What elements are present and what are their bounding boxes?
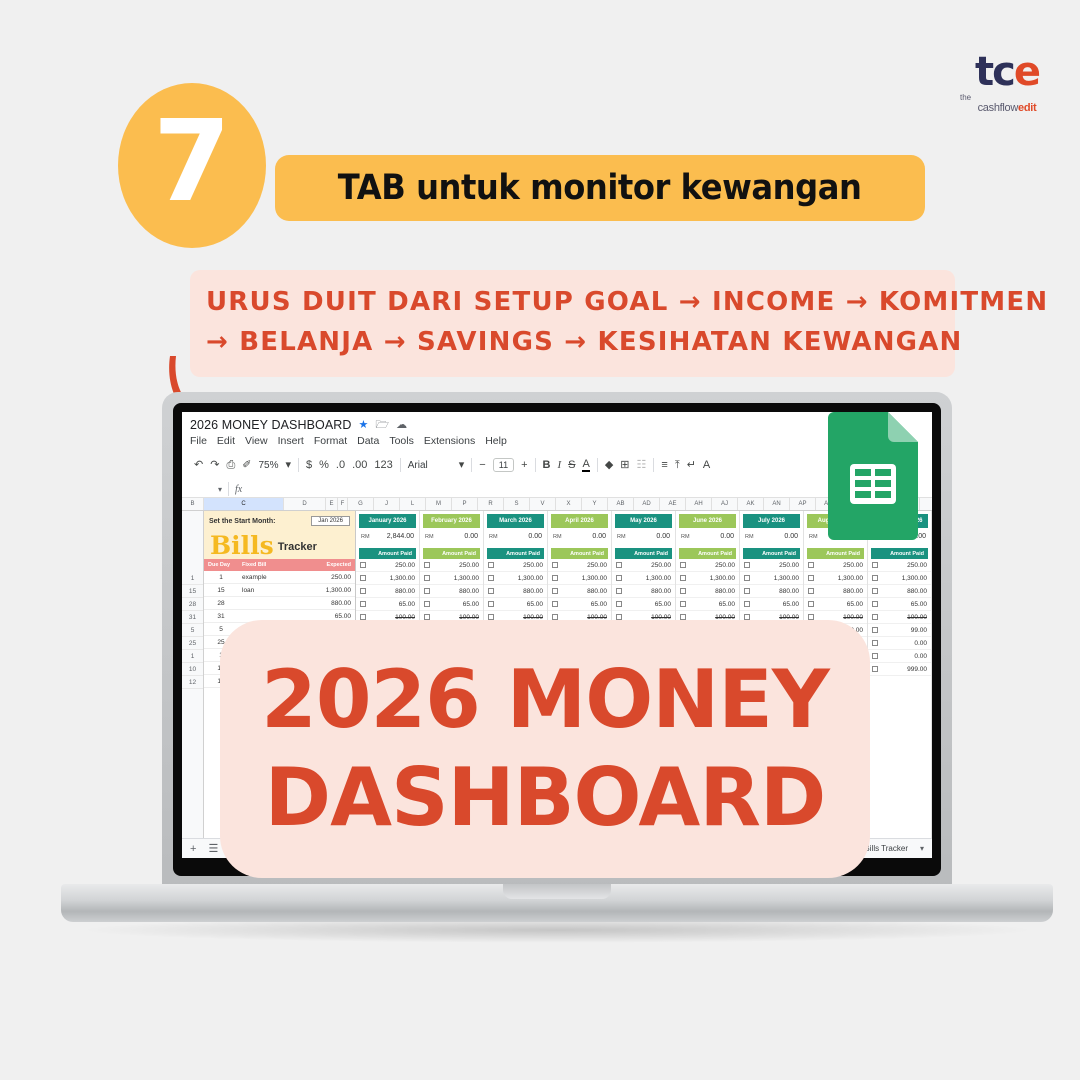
currency-label: RM xyxy=(617,534,626,540)
amount-paid-value: 65.00 xyxy=(399,601,415,608)
amount-paid-value: 250.00 xyxy=(907,562,927,569)
sheets-title-row: 2026 MONEY DASHBOARD ★ 🗁 ☁ xyxy=(190,418,924,432)
start-month-row: Set the Start Month: Jan 2026 xyxy=(204,511,355,531)
number-badge: 7 xyxy=(118,83,266,248)
sheets-menubar: File Edit View Insert Format Data Tools … xyxy=(190,435,924,447)
paid-checkbox[interactable] xyxy=(872,627,878,633)
column-header-an[interactable]: AN xyxy=(764,498,790,510)
amount-paid-cell[interactable]: 250.00 xyxy=(548,559,611,572)
decrease-font-size-button[interactable]: − xyxy=(479,460,485,471)
amount-paid-value: 100.00 xyxy=(907,614,927,621)
amount-paid-value: 250.00 xyxy=(715,562,735,569)
row-header[interactable]: 28 xyxy=(182,598,203,611)
amount-paid-cell[interactable]: 1,300.00 xyxy=(740,572,803,585)
month-total: RM0.00 xyxy=(484,528,547,545)
undo-icon[interactable]: ↶ xyxy=(194,460,203,471)
start-month-input[interactable]: Jan 2026 xyxy=(311,516,350,526)
amount-paid-value: 65.00 xyxy=(527,601,543,608)
paid-checkbox[interactable] xyxy=(616,588,622,594)
paid-checkbox[interactable] xyxy=(872,666,878,672)
paid-checkbox[interactable] xyxy=(872,653,878,659)
row-header[interactable]: 10 xyxy=(182,663,203,676)
paid-checkbox[interactable] xyxy=(616,601,622,607)
currency-label: RM xyxy=(489,534,498,540)
amount-paid-cell[interactable]: 1,300.00 xyxy=(548,572,611,585)
amount-paid-cell[interactable]: 999.00 xyxy=(868,663,931,676)
column-header-j[interactable]: J xyxy=(374,498,400,510)
amount-paid-value: 0.00 xyxy=(914,653,927,660)
amount-paid-cell[interactable]: 880.00 xyxy=(740,585,803,598)
amount-paid-value: 1,300.00 xyxy=(710,575,735,582)
amount-paid-value: 99.00 xyxy=(911,627,927,634)
strikethrough-button[interactable]: S xyxy=(568,460,575,471)
column-header-s[interactable]: S xyxy=(504,498,530,510)
font-chevron-down-icon[interactable]: ▾ xyxy=(459,460,465,471)
amount-paid-value: 250.00 xyxy=(523,562,543,569)
formula-divider xyxy=(228,482,229,496)
paid-checkbox[interactable] xyxy=(360,601,366,607)
headline-pill: TAB untuk monitor kewangan xyxy=(275,155,925,221)
bills-header-expected: Expected xyxy=(309,562,355,568)
amount-paid-value: 65.00 xyxy=(783,601,799,608)
amount-paid-cell[interactable]: 1,300.00 xyxy=(804,572,867,585)
more-formats-button[interactable]: 123 xyxy=(374,460,392,471)
amount-paid-header: Amount Paid xyxy=(743,548,800,559)
brand-logo: tce the cashflowedit xyxy=(952,52,1062,114)
bills-cell-expected: 1,300.00 xyxy=(309,587,355,594)
amount-paid-cell[interactable]: 250.00 xyxy=(356,559,419,572)
column-header-ah[interactable]: AH xyxy=(686,498,712,510)
month-header: June 2026 xyxy=(679,514,736,528)
amount-paid-header: Amount Paid xyxy=(487,548,544,559)
amount-paid-cell[interactable]: 65.00 xyxy=(740,598,803,611)
column-header-c[interactable]: C xyxy=(204,498,284,510)
amount-paid-value: 65.00 xyxy=(847,601,863,608)
bold-button[interactable]: B xyxy=(543,460,551,471)
column-header-f[interactable]: F xyxy=(338,498,348,510)
amount-paid-value: 1,300.00 xyxy=(902,575,927,582)
paid-checkbox[interactable] xyxy=(872,562,878,568)
bills-cell-due-day: 28 xyxy=(204,600,238,607)
month-header: April 2026 xyxy=(551,514,608,528)
amount-paid-value: 65.00 xyxy=(591,601,607,608)
amount-paid-value: 880.00 xyxy=(459,588,479,595)
sheets-toolbar: ↶ ↷ ⎙ ✐ 75% ▾ $ % .0 .00 123 Arial xyxy=(188,452,926,478)
amount-paid-header: Amount Paid xyxy=(615,548,672,559)
amount-paid-value: 1,300.00 xyxy=(582,575,607,582)
amount-paid-cell[interactable]: 100.00 xyxy=(868,611,931,624)
amount-paid-value: 250.00 xyxy=(395,562,415,569)
all-sheets-icon[interactable]: ☰ xyxy=(208,842,218,855)
column-header-m[interactable]: M xyxy=(426,498,452,510)
bills-logo-main: Bills xyxy=(210,535,274,558)
currency-label: RM xyxy=(745,534,754,540)
column-header-y[interactable]: Y xyxy=(582,498,608,510)
paid-checkbox[interactable] xyxy=(680,562,686,568)
star-icon[interactable]: ★ xyxy=(359,420,369,431)
amount-paid-header: Amount Paid xyxy=(423,548,480,559)
month-header: July 2026 xyxy=(743,514,800,528)
toolbar-divider-4 xyxy=(535,458,536,472)
paid-checkbox[interactable] xyxy=(872,575,878,581)
start-month-label: Set the Start Month: xyxy=(209,518,276,525)
column-header-d[interactable]: D xyxy=(284,498,326,510)
amount-paid-value: 1,300.00 xyxy=(838,575,863,582)
amount-paid-value: 1,300.00 xyxy=(774,575,799,582)
redo-icon[interactable]: ↷ xyxy=(210,460,219,471)
amount-paid-value: 250.00 xyxy=(587,562,607,569)
amount-paid-value: 880.00 xyxy=(843,588,863,595)
paid-checkbox[interactable] xyxy=(488,588,494,594)
paid-checkbox[interactable] xyxy=(360,575,366,581)
paid-checkbox[interactable] xyxy=(552,601,558,607)
amount-paid-cell[interactable]: 65.00 xyxy=(548,598,611,611)
month-total: RM0.00 xyxy=(420,528,483,545)
move-to-folder-icon[interactable]: 🗁 xyxy=(375,420,389,431)
menu-tools[interactable]: Tools xyxy=(389,435,414,447)
amount-paid-cell[interactable]: 1,300.00 xyxy=(612,572,675,585)
paid-checkbox[interactable] xyxy=(744,575,750,581)
amount-paid-cell[interactable]: 1,300.00 xyxy=(356,572,419,585)
dashboard-title-overlay: 2026 MONEY DASHBOARD xyxy=(220,620,870,878)
paid-checkbox[interactable] xyxy=(744,601,750,607)
paid-checkbox[interactable] xyxy=(424,575,430,581)
zoom-level-select[interactable]: 75% xyxy=(258,460,278,471)
currency-label: RM xyxy=(361,534,370,540)
month-header: May 2026 xyxy=(615,514,672,528)
amount-paid-cell[interactable]: 250.00 xyxy=(612,559,675,572)
paid-checkbox[interactable] xyxy=(552,562,558,568)
currency-label: RM xyxy=(425,534,434,540)
menu-format[interactable]: Format xyxy=(314,435,347,447)
amount-paid-value: 1,300.00 xyxy=(390,575,415,582)
amount-paid-cell[interactable]: 99.00 xyxy=(868,624,931,637)
amount-paid-value: 880.00 xyxy=(523,588,543,595)
column-header-ae[interactable]: AE xyxy=(660,498,686,510)
bills-cell-due-day: 1 xyxy=(204,574,238,581)
month-total-value: 0.00 xyxy=(720,533,734,540)
font-size-input[interactable]: 11 xyxy=(493,458,514,472)
text-rotation-icon[interactable]: A xyxy=(703,460,710,471)
currency-label: RM xyxy=(553,534,562,540)
paid-checkbox[interactable] xyxy=(680,588,686,594)
paid-checkbox[interactable] xyxy=(488,575,494,581)
toolbar-divider-5 xyxy=(597,458,598,472)
amount-paid-cell[interactable]: 250.00 xyxy=(484,559,547,572)
paid-checkbox[interactable] xyxy=(872,614,878,620)
paid-checkbox[interactable] xyxy=(808,562,814,568)
bills-header-fixed-bill: Fixed Bill xyxy=(238,562,309,568)
month-total: RM2,844.00 xyxy=(356,528,419,545)
row-header[interactable]: 5 xyxy=(182,624,203,637)
sheet-tab-bills-tracker[interactable]: Bills Tracker xyxy=(864,844,908,853)
bills-cell-due-day: 31 xyxy=(204,613,238,620)
currency-label: RM xyxy=(809,534,818,540)
bills-cell-expected: 880.00 xyxy=(309,600,355,607)
paid-checkbox[interactable] xyxy=(360,562,366,568)
paid-checkbox[interactable] xyxy=(872,601,878,607)
add-sheet-icon[interactable]: + xyxy=(190,843,196,855)
amount-paid-cell[interactable]: 0.00 xyxy=(868,650,931,663)
name-box-chevron-down-icon[interactable]: ▾ xyxy=(218,485,222,494)
bills-cell-expected: 65.00 xyxy=(309,613,355,620)
paid-checkbox[interactable] xyxy=(488,562,494,568)
column-header-l[interactable]: L xyxy=(400,498,426,510)
column-header-x[interactable]: X xyxy=(556,498,582,510)
month-total: RM0.00 xyxy=(612,528,675,545)
month-total-value: 0.00 xyxy=(528,533,542,540)
amount-paid-value: 880.00 xyxy=(715,588,735,595)
column-header-p[interactable]: P xyxy=(452,498,478,510)
amount-paid-cell[interactable]: 880.00 xyxy=(484,585,547,598)
paid-checkbox[interactable] xyxy=(744,588,750,594)
amount-paid-value: 100.00 xyxy=(843,614,863,621)
print-icon[interactable]: ⎙ xyxy=(226,460,235,471)
month-total-value: 0.00 xyxy=(784,533,798,540)
amount-paid-value: 1,300.00 xyxy=(454,575,479,582)
column-header-row: BCDEFGJLMPRSVXYABADAEAHAJAKANAPAQATAVAW xyxy=(182,498,932,511)
column-header-e[interactable]: E xyxy=(326,498,338,510)
bills-cell-fixed-bill: loan xyxy=(238,587,309,594)
flow-description-block: URUS DUIT DARI SETUP GOAL → INCOME → KOM… xyxy=(190,270,955,377)
amount-paid-cell[interactable]: 65.00 xyxy=(356,598,419,611)
amount-paid-header: Amount Paid xyxy=(359,548,416,559)
paid-checkbox[interactable] xyxy=(680,575,686,581)
brand-tagline: cashflowedit xyxy=(952,102,1062,114)
overlay-line-2: DASHBOARD xyxy=(265,749,826,847)
amount-paid-cell[interactable]: 1,300.00 xyxy=(868,572,931,585)
bills-header-due-day: Due Day xyxy=(204,562,238,568)
brand-tagline-accent: edit xyxy=(1018,102,1036,114)
document-title[interactable]: 2026 MONEY DASHBOARD xyxy=(190,418,352,432)
bills-tracker-logo: Bills Tracker xyxy=(204,531,355,559)
column-header-ad[interactable]: AD xyxy=(634,498,660,510)
amount-paid-cell[interactable]: 65.00 xyxy=(612,598,675,611)
overlay-line-1: 2026 MONEY xyxy=(261,651,829,749)
formula-bar: ▾ fx xyxy=(182,481,932,498)
paid-checkbox[interactable] xyxy=(808,601,814,607)
amount-paid-cell[interactable]: 65.00 xyxy=(420,598,483,611)
month-total-value: 2,844.00 xyxy=(387,533,414,540)
amount-paid-cell[interactable]: 880.00 xyxy=(804,585,867,598)
brand-letter-e: e xyxy=(1014,49,1039,95)
menu-edit[interactable]: Edit xyxy=(217,435,235,447)
amount-paid-cell[interactable]: 880.00 xyxy=(676,585,739,598)
amount-paid-cell[interactable]: 1,300.00 xyxy=(484,572,547,585)
paid-checkbox[interactable] xyxy=(360,588,366,594)
flow-line-2: → BELANJA → SAVINGS → KESIHATAN KEWANGAN xyxy=(206,322,939,362)
menu-insert[interactable]: Insert xyxy=(278,435,304,447)
paid-checkbox[interactable] xyxy=(808,575,814,581)
paid-checkbox[interactable] xyxy=(424,588,430,594)
toolbar-divider-6 xyxy=(653,458,654,472)
amount-paid-header: Amount Paid xyxy=(551,548,608,559)
amount-paid-cell[interactable]: 250.00 xyxy=(676,559,739,572)
bills-table-header: Due Day Fixed Bill Expected xyxy=(204,559,355,571)
amount-paid-value: 880.00 xyxy=(587,588,607,595)
borders-icon[interactable]: ⊞ xyxy=(620,460,629,471)
column-header-r[interactable]: R xyxy=(478,498,504,510)
amount-paid-header: Amount Paid xyxy=(807,548,864,559)
amount-paid-cell[interactable]: 250.00 xyxy=(804,559,867,572)
increase-font-size-button[interactable]: + xyxy=(521,460,527,471)
column-header-ab[interactable]: AB xyxy=(608,498,634,510)
row-header[interactable]: 1 xyxy=(182,572,203,585)
amount-paid-cell[interactable]: 65.00 xyxy=(804,598,867,611)
italic-button[interactable]: I xyxy=(557,460,561,471)
paid-checkbox[interactable] xyxy=(808,588,814,594)
amount-paid-value: 880.00 xyxy=(907,588,927,595)
month-total-value: 0.00 xyxy=(656,533,670,540)
month-header: March 2026 xyxy=(487,514,544,528)
toolbar-divider-3 xyxy=(471,458,472,472)
paid-checkbox[interactable] xyxy=(488,601,494,607)
bills-row[interactable]: 1example250.00 xyxy=(204,571,355,584)
decrease-decimal-button[interactable]: .0 xyxy=(336,460,345,471)
sheet-tab-chevron-down-icon[interactable]: ▾ xyxy=(920,844,924,853)
menu-file[interactable]: File xyxy=(190,435,207,447)
amount-paid-header: Amount Paid xyxy=(871,548,928,559)
amount-paid-value: 880.00 xyxy=(779,588,799,595)
amount-paid-value: 880.00 xyxy=(395,588,415,595)
currency-label: RM xyxy=(681,534,690,540)
amount-paid-cell[interactable]: 880.00 xyxy=(420,585,483,598)
currency-format-button[interactable]: $ xyxy=(306,460,312,471)
amount-paid-value: 65.00 xyxy=(463,601,479,608)
paid-checkbox[interactable] xyxy=(424,562,430,568)
row-header[interactable]: 15 xyxy=(182,585,203,598)
amount-paid-cell[interactable]: 880.00 xyxy=(868,585,931,598)
amount-paid-cell[interactable]: 880.00 xyxy=(548,585,611,598)
paid-checkbox[interactable] xyxy=(552,575,558,581)
amount-paid-cell[interactable]: 0.00 xyxy=(868,637,931,650)
badge-number: 7 xyxy=(153,106,231,218)
amount-paid-cell[interactable]: 1,300.00 xyxy=(676,572,739,585)
column-header-ap[interactable]: AP xyxy=(790,498,816,510)
horizontal-align-icon[interactable]: ≡ xyxy=(661,460,667,471)
headline-text: TAB untuk monitor kewangan xyxy=(338,168,862,208)
brand-wordmark: tce xyxy=(952,52,1062,92)
merge-cells-icon[interactable]: ☷ xyxy=(637,460,647,471)
amount-paid-cell[interactable]: 250.00 xyxy=(740,559,803,572)
column-header-b[interactable]: B xyxy=(182,498,204,510)
amount-paid-value: 250.00 xyxy=(459,562,479,569)
google-sheets-icon xyxy=(828,412,918,540)
amount-paid-cell[interactable]: 250.00 xyxy=(420,559,483,572)
row-header[interactable]: 31 xyxy=(182,611,203,624)
month-header: February 2026 xyxy=(423,514,480,528)
month-total-value: 0.00 xyxy=(592,533,606,540)
bills-row[interactable]: 15loan1,300.00 xyxy=(204,584,355,597)
brand-letter-c: c xyxy=(992,49,1014,95)
paint-format-icon[interactable]: ✐ xyxy=(242,460,251,471)
amount-paid-cell[interactable]: 65.00 xyxy=(868,598,931,611)
bills-cell-expected: 250.00 xyxy=(309,574,355,581)
row-header[interactable]: 1 xyxy=(182,650,203,663)
poster-canvas: tce the cashflowedit 7 TAB untuk monitor… xyxy=(0,0,1080,1080)
paid-checkbox[interactable] xyxy=(872,640,878,646)
amount-paid-value: 0.00 xyxy=(914,640,927,647)
flow-line-1: URUS DUIT DARI SETUP GOAL → INCOME → KOM… xyxy=(206,282,939,322)
amount-paid-value: 880.00 xyxy=(651,588,671,595)
vertical-align-icon[interactable]: ⤒ xyxy=(675,460,680,471)
brand-tagline-the: the xyxy=(960,94,1062,102)
amount-paid-value: 65.00 xyxy=(719,601,735,608)
month-total: RM0.00 xyxy=(548,528,611,545)
paid-checkbox[interactable] xyxy=(616,575,622,581)
amount-paid-value: 65.00 xyxy=(655,601,671,608)
month-total: RM0.00 xyxy=(740,528,803,545)
menu-extensions[interactable]: Extensions xyxy=(424,435,475,447)
cloud-saved-icon[interactable]: ☁ xyxy=(396,420,407,431)
text-color-button[interactable]: A xyxy=(582,459,589,472)
column-header-aj[interactable]: AJ xyxy=(712,498,738,510)
amount-paid-cell[interactable]: 880.00 xyxy=(612,585,675,598)
amount-paid-value: 65.00 xyxy=(911,601,927,608)
row-header[interactable]: 12 xyxy=(182,676,203,689)
column-header-g[interactable]: G xyxy=(348,498,374,510)
column-header-ak[interactable]: AK xyxy=(738,498,764,510)
amount-paid-header: Amount Paid xyxy=(679,548,736,559)
amount-paid-cell[interactable]: 1,300.00 xyxy=(420,572,483,585)
bills-logo-sub: Tracker xyxy=(278,539,317,557)
toolbar-divider-1 xyxy=(298,458,299,472)
menu-help[interactable]: Help xyxy=(485,435,507,447)
formula-fx-icon: fx xyxy=(235,484,242,495)
paid-checkbox[interactable] xyxy=(424,601,430,607)
month-total: RM0.00 xyxy=(676,528,739,545)
text-wrap-icon[interactable]: ↵ xyxy=(687,460,696,471)
brand-letter-t: t xyxy=(975,49,992,95)
month-column: September 2026RM0.00Amount Paid250.001,3… xyxy=(868,511,932,858)
bills-row[interactable]: 28880.00 xyxy=(204,597,355,610)
month-header: January 2026 xyxy=(359,514,416,528)
laptop-base xyxy=(61,884,1053,922)
amount-paid-cell[interactable]: 880.00 xyxy=(356,585,419,598)
amount-paid-value: 1,300.00 xyxy=(518,575,543,582)
bills-cell-fixed-bill: example xyxy=(238,574,309,581)
column-header-v[interactable]: V xyxy=(530,498,556,510)
percent-format-button[interactable]: % xyxy=(319,460,329,471)
sheets-titlebar: 2026 MONEY DASHBOARD ★ 🗁 ☁ File Edit Vie… xyxy=(182,412,932,447)
brand-tagline-main: cashflow xyxy=(978,102,1018,114)
font-family-select[interactable]: Arial xyxy=(408,460,452,471)
paid-checkbox[interactable] xyxy=(552,588,558,594)
row-header-column: 115283152511012 xyxy=(182,511,204,858)
chevron-down-icon[interactable]: ▾ xyxy=(285,460,291,471)
paid-checkbox[interactable] xyxy=(680,601,686,607)
paid-checkbox[interactable] xyxy=(872,588,878,594)
amount-paid-value: 999.00 xyxy=(907,666,927,673)
menu-data[interactable]: Data xyxy=(357,435,379,447)
increase-decimal-button[interactable]: .00 xyxy=(352,460,367,471)
bills-cell-due-day: 15 xyxy=(204,587,238,594)
month-total-value: 0.00 xyxy=(464,533,478,540)
amount-paid-value: 250.00 xyxy=(779,562,799,569)
amount-paid-cell[interactable]: 65.00 xyxy=(676,598,739,611)
toolbar-divider-2 xyxy=(400,458,401,472)
fill-color-icon[interactable]: ◆ xyxy=(605,460,613,471)
paid-checkbox[interactable] xyxy=(616,562,622,568)
paid-checkbox[interactable] xyxy=(744,562,750,568)
amount-paid-value: 250.00 xyxy=(843,562,863,569)
amount-paid-cell[interactable]: 250.00 xyxy=(868,559,931,572)
amount-paid-cell[interactable]: 65.00 xyxy=(484,598,547,611)
menu-view[interactable]: View xyxy=(245,435,268,447)
amount-paid-value: 250.00 xyxy=(651,562,671,569)
amount-paid-value: 1,300.00 xyxy=(646,575,671,582)
row-header[interactable]: 25 xyxy=(182,637,203,650)
